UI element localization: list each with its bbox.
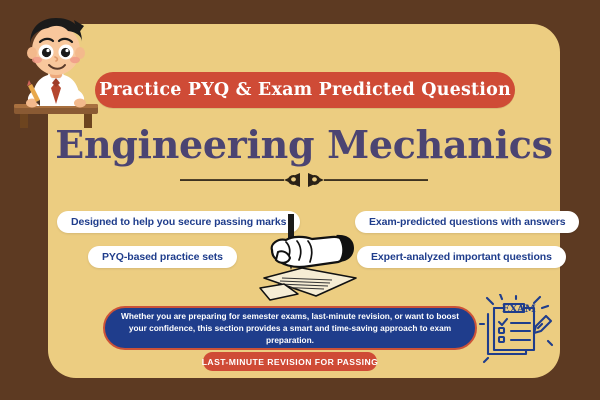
bottom-banner-label: LAST-MINUTE REVISION FOR PASSING [202,357,379,367]
feature-pill-label: PYQ-based practice sets [102,251,223,263]
feature-pill-label: Exam-predicted questions with answers [369,216,565,228]
hand-writing-illustration [258,212,364,308]
bottom-banner: LAST-MINUTE REVISION FOR PASSING [203,352,377,371]
page-title: Engineering Mechanics [48,122,560,167]
student-illustration [8,8,104,128]
feature-pill-label: Designed to help you secure passing mark… [71,216,286,228]
hand-writing-icon [258,212,364,308]
description-box: Whether you are preparing for semester e… [103,306,477,350]
exam-clipboard-illustration: EXAM [478,294,554,364]
infinity-bowtie-icon [180,170,428,190]
feature-pill-left-2[interactable]: PYQ-based practice sets [88,246,237,268]
divider [180,170,428,190]
ribbon-banner: Practice PYQ & Exam Predicted Question [95,72,515,108]
ribbon-label: Practice PYQ & Exam Predicted Question [99,80,511,100]
exam-checklist-icon: EXAM [478,294,554,364]
description-text: Whether you are preparing for semester e… [121,310,459,346]
student-writing-icon [8,8,104,128]
exam-clipboard-label: EXAM [502,304,536,315]
feature-pill-right-1[interactable]: Exam-predicted questions with answers [355,211,579,233]
feature-pill-right-2[interactable]: Expert-analyzed important questions [357,246,566,268]
poster-canvas: Practice PYQ & Exam Predicted Question E… [0,0,600,400]
feature-pill-label: Expert-analyzed important questions [371,251,552,263]
